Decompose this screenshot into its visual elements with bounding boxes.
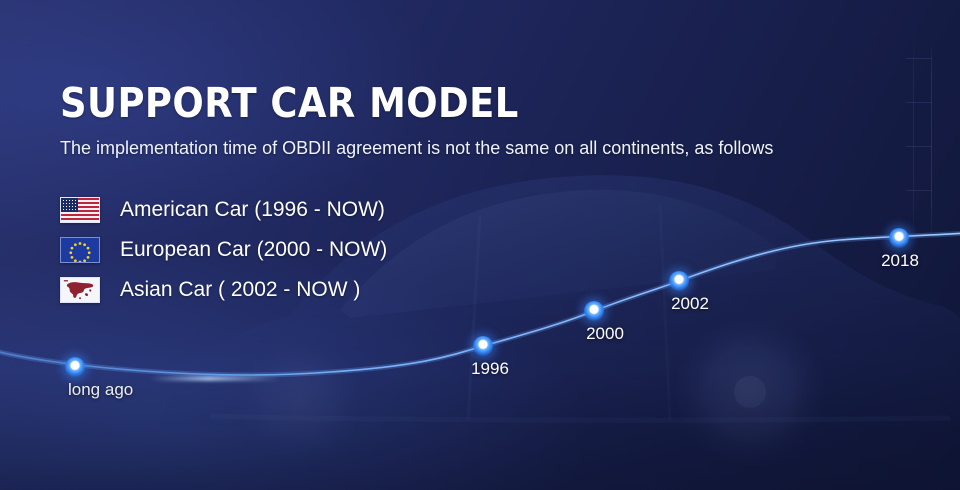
timeline-node-1996[interactable] (473, 336, 493, 356)
timeline-node-2018[interactable] (889, 228, 909, 248)
infographic-slide: SUPPORT CAR MODEL The implementation tim… (0, 0, 960, 490)
asia-map-icon (60, 277, 100, 303)
list-item: European Car (2000 - NOW) (60, 230, 387, 270)
page-title: SUPPORT CAR MODEL (60, 82, 519, 125)
us-flag-icon (60, 197, 100, 223)
list-item: Asian Car ( 2002 - NOW ) (60, 270, 387, 310)
timeline-node-2002[interactable] (669, 271, 689, 291)
list-item-label: Asian Car ( 2002 - NOW ) (120, 278, 360, 302)
timeline-node-label: 2018 (881, 251, 919, 271)
timeline-node-label: 2002 (671, 294, 709, 314)
supported-regions-list: American Car (1996 - NOW) (60, 190, 387, 310)
timeline-node-2000[interactable] (584, 301, 604, 321)
eu-flag-icon (60, 237, 100, 263)
timeline-node-label: 1996 (471, 359, 509, 379)
timeline-node-label: 2000 (586, 324, 624, 344)
list-item-label: European Car (2000 - NOW) (120, 238, 387, 262)
list-item: American Car (1996 - NOW) (60, 190, 387, 230)
page-subtitle: The implementation time of OBDII agreeme… (60, 138, 773, 159)
list-item-label: American Car (1996 - NOW) (120, 198, 385, 222)
timeline-node-long-ago[interactable] (65, 357, 85, 377)
timeline-node-label: long ago (68, 380, 133, 400)
light-streak-decoration (150, 376, 280, 381)
